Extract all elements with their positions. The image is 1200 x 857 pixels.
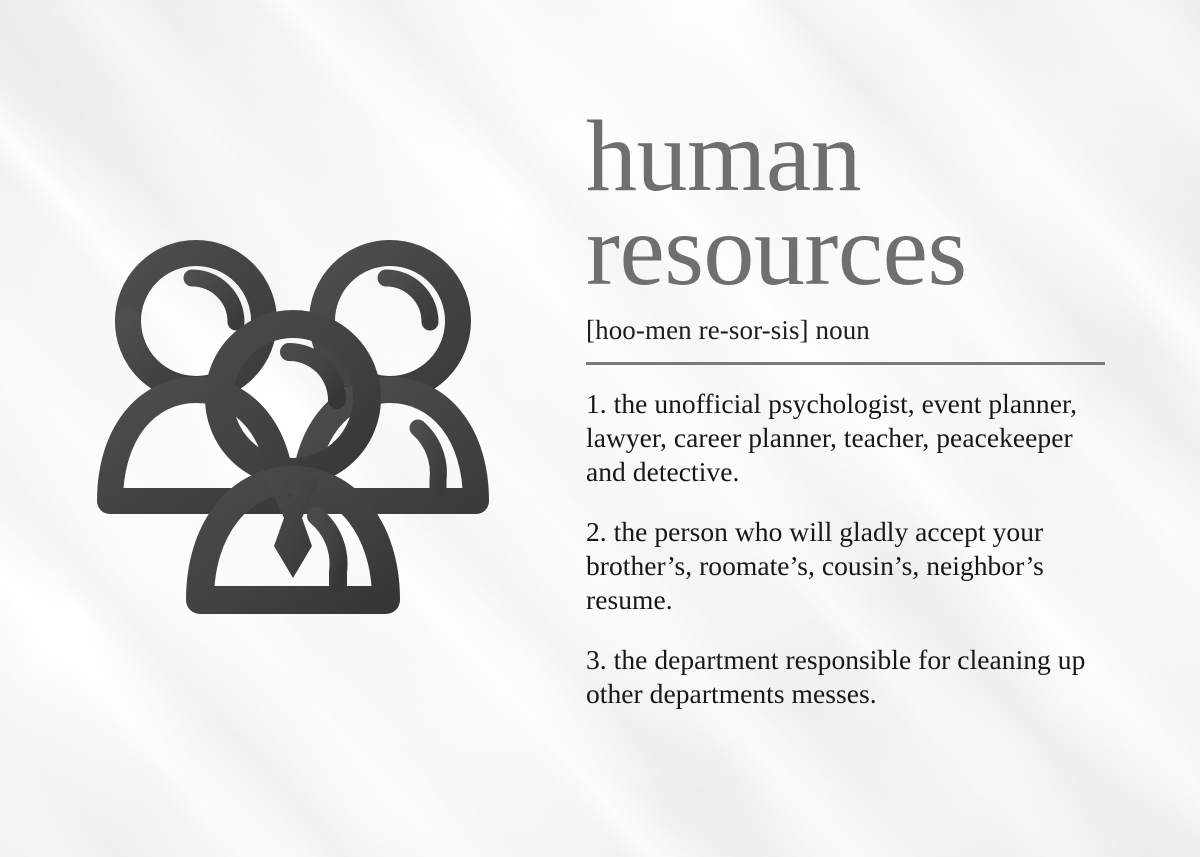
definition-text-column: human resources [hoo-men re-sor-sis] nou… [586,112,1146,711]
headword-line-1: human [586,112,1146,202]
definition-item-1: 1. the unofficial psychologist, event pl… [586,387,1086,489]
definition-item-3: 3. the department responsible for cleani… [586,643,1146,711]
illustration-area [88,228,498,628]
definition-list: 1. the unofficial psychologist, event pl… [586,387,1146,711]
headword-line-2: resources [586,206,1146,296]
poster-content: human resources [hoo-men re-sor-sis] nou… [0,0,1200,857]
pronunciation-and-part-of-speech: [hoo-men re-sor-sis] noun [586,316,1146,346]
definition-item-2: 2. the person who will gladly accept you… [586,515,1086,617]
horizontal-divider [586,362,1105,365]
poster-canvas: human resources [hoo-men re-sor-sis] nou… [0,0,1200,857]
three-people-group-icon [88,228,498,628]
